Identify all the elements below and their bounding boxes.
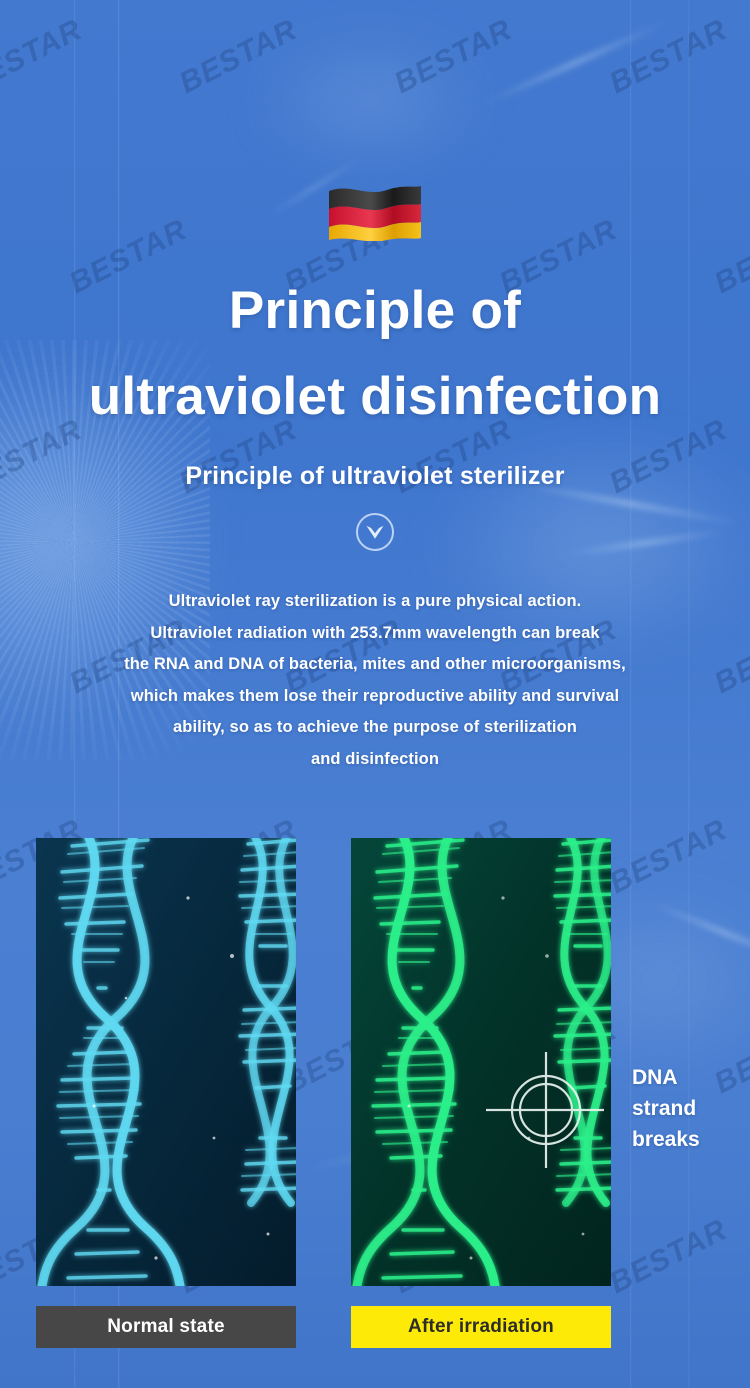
chevron-container bbox=[0, 513, 750, 556]
chevron-down-icon bbox=[366, 525, 385, 540]
page-title: Principle of ultraviolet disinfection bbox=[0, 268, 750, 440]
body-paragraph: Ultraviolet ray sterilization is a pure … bbox=[0, 586, 750, 775]
dna-label-line-1: DNA bbox=[632, 1062, 742, 1093]
crosshair-target-icon bbox=[486, 1050, 606, 1170]
comparison-panel-irradiated: After irradiation bbox=[351, 838, 611, 1348]
main-content: Principle of ultraviolet disinfection Pr… bbox=[0, 0, 750, 775]
comparison-panel-normal: Normal state bbox=[36, 838, 296, 1348]
german-flag-icon bbox=[327, 183, 423, 241]
flag-container bbox=[0, 0, 750, 246]
dna-helix-graphic bbox=[36, 838, 296, 1286]
chevron-down-circle-icon[interactable] bbox=[356, 513, 394, 551]
caption-after-irradiation: After irradiation bbox=[351, 1306, 611, 1348]
title-line-1: Principle of bbox=[0, 268, 750, 354]
body-line-1: Ultraviolet ray sterilization is a pure … bbox=[40, 586, 710, 618]
dna-irradiated-image bbox=[351, 838, 611, 1286]
dna-strand-breaks-label: DNA strand breaks bbox=[632, 1062, 742, 1155]
body-line-2: Ultraviolet radiation with 253.7mm wavel… bbox=[40, 618, 710, 650]
caption-normal-state: Normal state bbox=[36, 1306, 296, 1348]
page-root: BESTARBESTARBESTARBESTARBESTARBESTARBEST… bbox=[0, 0, 750, 1388]
dna-normal-image bbox=[36, 838, 296, 1286]
dna-label-line-2: strand bbox=[632, 1093, 742, 1124]
body-line-6: and disinfection bbox=[40, 744, 710, 776]
page-subtitle: Principle of ultraviolet sterilizer bbox=[0, 462, 750, 491]
dna-label-line-3: breaks bbox=[632, 1124, 742, 1155]
body-line-4: which makes them lose their reproductive… bbox=[40, 681, 710, 713]
body-line-5: ability, so as to achieve the purpose of… bbox=[40, 712, 710, 744]
title-line-2: ultraviolet disinfection bbox=[0, 354, 750, 440]
body-line-3: the RNA and DNA of bacteria, mites and o… bbox=[40, 649, 710, 681]
